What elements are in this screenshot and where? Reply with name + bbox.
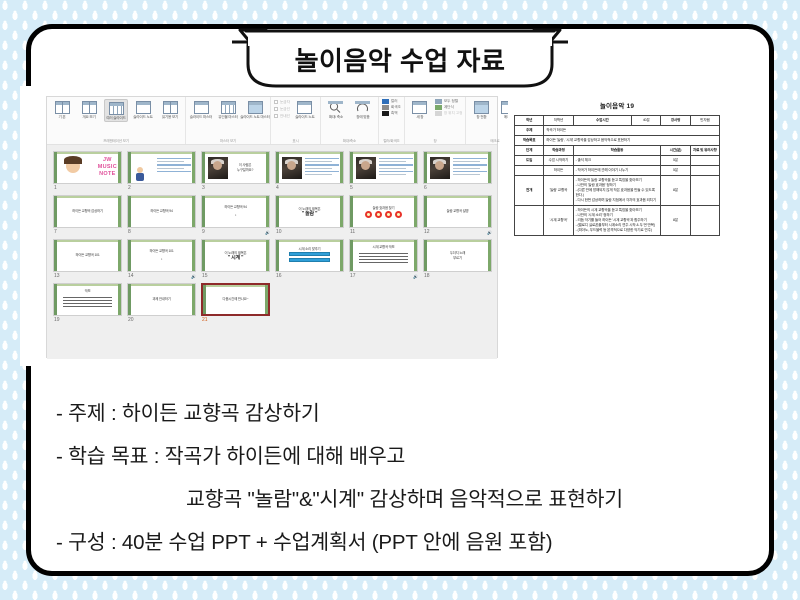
slide-thumb-text: 하이든 교향곡 94 xyxy=(128,196,195,227)
slide-thumbnail-3[interactable]: 이 사람은누구일까요?3 xyxy=(201,151,270,191)
magnifier-icon xyxy=(328,101,343,114)
slide-thumb-text: 하이든 교향곡 감상하기 xyxy=(54,196,121,227)
slide-thumb-text: 다음시간에 만나요~ xyxy=(203,285,268,314)
slide-thumb-image: 악보 xyxy=(53,283,122,316)
slide-thumb-image: 놀람 효과음 찾기 xyxy=(349,195,418,228)
handout-master-label: 유인물 마스터 xyxy=(218,115,237,120)
fit-window-label: 창에 맞춤 xyxy=(356,115,369,120)
slide-root: 놀이음악 수업 자료 기 본 개요 보기 xyxy=(0,0,800,600)
duration-value: 40분 xyxy=(632,116,661,126)
description-block: - 주제 : 하이든 교향곡 감상하기 - 학습 목표 : 작곡가 하이든에 대… xyxy=(56,392,756,564)
gridlines-label: 눈금선 xyxy=(280,106,290,112)
notes-pane-button[interactable]: 슬라이드 노트 xyxy=(293,99,317,120)
grayscale-label: 회색조 xyxy=(391,105,401,110)
slide-number: 12🔊 xyxy=(423,229,492,235)
handout-master-button[interactable]: 유인물 마스터 xyxy=(216,99,240,120)
row-process: '놀람' 교향곡 xyxy=(544,176,573,206)
activity-item: - 다시 한번 감상하며 놀람 지점에서 각자의 효과음 외치기 xyxy=(576,198,659,203)
reading-view-label: 읽기용 보기 xyxy=(162,115,178,120)
outline-view-button[interactable]: 개요 보기 xyxy=(77,99,101,120)
slide-number: 14🔊 xyxy=(127,273,196,279)
table-row-columns: 단계 학습과정 학습활동 시간(분) 자료 및 유의사항 xyxy=(515,146,720,156)
slide-thumb-image xyxy=(275,151,344,184)
arrange-all-label: 모두 정렬 xyxy=(444,99,458,104)
notes-page-view-button[interactable]: 슬라이드 노트 xyxy=(131,99,155,120)
ruler-checkbox[interactable]: 눈금자 xyxy=(274,99,290,105)
gridlines-checkbox[interactable]: 눈금선 xyxy=(274,106,290,112)
slide-thumb-text: JWMUSICNOTE xyxy=(98,157,117,178)
slide-number: 8 xyxy=(127,229,196,235)
row-stage: 도입 xyxy=(515,156,544,166)
slide-master-label: 슬라이드 마스터 xyxy=(190,115,213,120)
description-line-goal-cont: 교향곡 "놀람"&"시계" 감상하며 음악적으로 표현하기 xyxy=(56,478,756,521)
speaker-icon: 🔊 xyxy=(191,274,196,279)
slide-number: 7 xyxy=(53,229,122,235)
slide-thumb-image: 이 노래의 제목은" 시계 " xyxy=(201,239,270,272)
powerpoint-window: 기 본 개요 보기 여러 슬라이드 슬라이드 노트 xyxy=(46,96,498,358)
ribbon-group-label: 마스터 보기 xyxy=(189,139,267,144)
table-row-goal: 학습목표 하이든 '놀람', '시계' 교향곡을 감상하고 음악적으로 표현하기 xyxy=(515,136,720,146)
table-row: 도입수업 시작하기- 출석 체크5분 xyxy=(515,156,720,166)
fit-window-button[interactable]: 창에 맞춤 xyxy=(351,99,375,120)
ribbon-group-label: 확대/축소 xyxy=(324,139,375,144)
slide-thumb-image: 시계 교향곡 악보 xyxy=(349,239,418,272)
guides-checkbox[interactable]: 안내선 xyxy=(274,113,290,119)
col-stage: 단계 xyxy=(515,146,544,156)
slide-thumb-text: 놀람 효과음 찾기 xyxy=(350,196,417,227)
text-lines-decoration xyxy=(305,158,339,177)
slide-thumb-text: 놀람 교향곡 설명 xyxy=(424,196,491,227)
bullet-lines-decoration xyxy=(157,158,191,174)
slide-thumbnail-12[interactable]: 놀람 교향곡 설명12🔊 xyxy=(423,195,492,235)
color-option[interactable]: 컬러 xyxy=(382,99,401,104)
text-lines-decoration xyxy=(453,158,487,177)
layout-basic-icon xyxy=(55,101,70,114)
slide-thumbnail-10[interactable]: 이 노래의 제목은" 놀람 "10 xyxy=(275,195,344,235)
row-time: 5분 xyxy=(661,156,690,166)
slide-thumb-text: 하이든 교향곡 101 xyxy=(54,240,121,271)
switch-window-label: 창 전환 xyxy=(476,115,486,120)
slide-number: 3 xyxy=(201,185,270,191)
new-window-icon xyxy=(412,101,427,114)
col-process: 학습과정 xyxy=(544,146,573,156)
checkbox-icon xyxy=(274,107,278,111)
notes-page-view-label: 슬라이드 노트 xyxy=(133,115,152,120)
slide-thumbnail-9[interactable]: 하이든 교향곡 94♪9🔊 xyxy=(201,195,270,235)
composer-portrait-image xyxy=(356,157,376,179)
row-stage xyxy=(515,206,544,236)
guides-label: 안내선 xyxy=(280,113,290,119)
banner-title-text: 놀이음악 수업 자료 xyxy=(232,28,568,94)
row-process: '시계 교향곡' xyxy=(544,206,573,236)
slide-thumb-image: 다음시간에 만나요~ xyxy=(201,283,270,316)
color-swatch-icon xyxy=(382,99,389,104)
reading-icon xyxy=(163,101,178,114)
slide-thumbnail-8[interactable]: 하이든 교향곡 948 xyxy=(127,195,196,235)
slide-thumb-image: 하이든 교향곡 94♪ xyxy=(201,195,270,228)
row-activities: - 출석 체크 xyxy=(573,156,661,166)
row-activities: - 하이든의 놀람 교향곡을 듣고 특징을 찾아보기- 나만의 '놀람 효과음'… xyxy=(573,176,661,206)
slide-thumb-text: 두더지 노래부르기 xyxy=(424,240,491,271)
slide-sorter-pane[interactable]: JWMUSICNOTE12이 사람은누구일까요?3456하이든 교향곡 감상하기… xyxy=(47,145,497,359)
slide-thumb-image: 하이든 교향곡 101 xyxy=(53,239,122,272)
teacher-value: 민지쌤 xyxy=(690,116,719,126)
slide-thumbnail-14[interactable]: 하이든 교향곡 101♪14🔊 xyxy=(127,239,196,279)
answer-bars-decoration xyxy=(289,252,330,264)
row-process: 하이든 xyxy=(544,166,573,176)
slide-number: 6 xyxy=(423,185,492,191)
speaker-icon: 🔊 xyxy=(487,230,492,235)
slide-sorter-view-label: 여러 슬라이드 xyxy=(106,116,125,121)
checkbox-icon xyxy=(274,100,278,104)
cascade-label: 계단식 xyxy=(444,105,454,110)
row-stage: 전개 xyxy=(515,176,544,206)
lesson-plan-document: 놀이음악 19 학년 저학년 수업시간 40분 강사명 민지쌤 주제 작곡가 하… xyxy=(508,86,726,364)
goal-label: 학습목표 xyxy=(515,136,544,146)
slide-number: 19 xyxy=(53,317,122,323)
title-banner: 놀이음악 수업 자료 xyxy=(232,28,568,94)
cascade-item[interactable]: 계단식 xyxy=(435,105,463,110)
ribbon-group-presentation-views: 기 본 개요 보기 여러 슬라이드 슬라이드 노트 xyxy=(47,97,186,144)
slide-thumbnail-21[interactable]: 다음시간에 만나요~21 xyxy=(201,283,270,323)
slide-thumb-image: 시계 소리 맞추기 xyxy=(275,239,344,272)
powerpoint-ribbon: 기 본 개요 보기 여러 슬라이드 슬라이드 노트 xyxy=(47,97,497,145)
col-notes: 자료 및 유의사항 xyxy=(690,146,719,156)
row-time: 5분 xyxy=(661,166,690,176)
embedded-screenshot: 기 본 개요 보기 여러 슬라이드 슬라이드 노트 xyxy=(20,86,730,366)
row-time: 8분 xyxy=(661,206,690,236)
new-window-button[interactable]: 새 창 xyxy=(408,99,432,120)
subject-value: 작곡가 하이든 xyxy=(544,126,720,136)
checkbox-icon xyxy=(274,114,278,118)
subject-label: 주제 xyxy=(515,126,544,136)
master-handout-icon xyxy=(221,101,236,114)
row-activities: - 작곡가 하이든에 관해 이야기 나누기 xyxy=(573,166,661,176)
goal-value: 하이든 '놀람', '시계' 교향곡을 감상하고 음악적으로 표현하기 xyxy=(544,136,720,146)
table-row: 하이든- 작곡가 하이든에 관해 이야기 나누기5분 xyxy=(515,166,720,176)
slide-number: 21 xyxy=(201,317,270,323)
slide-thumb-image xyxy=(423,151,492,184)
slide-thumbnail-20[interactable]: 과제 안내하기20 xyxy=(127,283,196,323)
slide-thumb-image: 두더지 노래부르기 xyxy=(423,239,492,272)
fit-window-icon xyxy=(355,101,370,114)
slide-thumbnail-15[interactable]: 이 노래의 제목은" 시계 "15 xyxy=(201,239,270,279)
move-split-item[interactable]: 창 위치 고정 xyxy=(435,111,463,116)
table-row-subject: 주제 작곡가 하이든 xyxy=(515,126,720,136)
slide-thumb-text: 과제 안내하기 xyxy=(128,284,195,315)
slide-thumbnail-4[interactable]: 4 xyxy=(275,151,344,191)
blackwhite-option[interactable]: 흑백 xyxy=(382,111,401,116)
grade-label: 학년 xyxy=(515,116,544,126)
slide-thumbnail-16[interactable]: 시계 소리 맞추기16 xyxy=(275,239,344,279)
slide-number: 17🔊 xyxy=(349,273,418,279)
slide-thumb-text: 이 노래의 제목은" 시계 " xyxy=(202,240,269,271)
description-line-subject: - 주제 : 하이든 교향곡 감상하기 xyxy=(56,392,756,435)
slide-number: 11 xyxy=(349,229,418,235)
notes-master-label: 슬라이드 노트 마스터 xyxy=(240,115,270,120)
arrange-all-icon xyxy=(435,99,442,104)
slide-thumb-text: 하이든 교향곡 101♪ xyxy=(128,240,195,271)
table-row: 전개'놀람' 교향곡- 하이든의 놀람 교향곡을 듣고 특징을 찾아보기- 나만… xyxy=(515,176,720,206)
slide-thumb-image: 하이든 교향곡 감상하기 xyxy=(53,195,122,228)
zoom-button[interactable]: 확대/ 축소 xyxy=(324,99,348,120)
row-notes xyxy=(690,166,719,176)
row-notes xyxy=(690,176,719,206)
ribbon-group-label: 표시 xyxy=(274,139,317,144)
slide-thumb-image: 과제 안내하기 xyxy=(127,283,196,316)
lesson-plan-table: 학년 저학년 수업시간 40분 강사명 민지쌤 주제 작곡가 하이든 학습목표 … xyxy=(514,115,720,236)
slide-thumb-text: 시계 소리 맞추기 xyxy=(276,240,343,271)
slide-number: 2 xyxy=(127,185,196,191)
child-illustration-icon xyxy=(135,167,145,181)
row-notes xyxy=(690,206,719,236)
slide-thumb-image xyxy=(127,151,196,184)
slide-thumbnail-17[interactable]: 시계 교향곡 악보17🔊 xyxy=(349,239,418,279)
cascade-icon xyxy=(435,105,442,110)
slide-number: 4 xyxy=(275,185,344,191)
lesson-plan-title: 놀이음악 19 xyxy=(508,100,726,110)
activity-item: - (피아노, 우드블럭 등 본격적으로 다양한 악기로 연주) xyxy=(576,228,659,233)
description-line-goal: - 학습 목표 : 작곡가 하이든에 대해 배우고 xyxy=(56,435,756,478)
slide-thumb-image: 이 사람은누구일까요? xyxy=(201,151,270,184)
slide-thumbnail-7[interactable]: 하이든 교향곡 감상하기7 xyxy=(53,195,122,235)
activity-item: - 작곡가 하이든에 관해 이야기 나누기 xyxy=(576,168,659,173)
notes-pane-label: 슬라이드 노트 xyxy=(295,115,314,120)
master-slide-icon xyxy=(194,101,209,114)
slide-thumbnail-19[interactable]: 악보19 xyxy=(53,283,122,323)
slide-thumbnail-6[interactable]: 6 xyxy=(423,151,492,191)
move-split-label: 창 위치 고정 xyxy=(444,111,463,116)
slide-number: 13 xyxy=(53,273,122,279)
ribbon-group-master-views: 슬라이드 마스터 유인물 마스터 슬라이드 노트 마스터 마스터 보기 xyxy=(186,97,271,144)
master-notes-icon xyxy=(248,101,263,114)
slide-thumb-image: 이 노래의 제목은" 놀람 " xyxy=(275,195,344,228)
description-line-composition: - 구성 : 40분 수업 PPT + 수업계획서 (PPT 안에 음원 포함) xyxy=(56,521,756,564)
table-row-info: 학년 저학년 수업시간 40분 강사명 민지쌤 xyxy=(515,116,720,126)
row-notes xyxy=(690,156,719,166)
slide-thumb-text: 이 사람은누구일까요? xyxy=(202,152,269,183)
layout-outline-icon xyxy=(82,101,97,114)
blackwhite-label: 흑백 xyxy=(391,111,398,116)
slide-number: 1 xyxy=(53,185,122,191)
slide-master-button[interactable]: 슬라이드 마스터 xyxy=(189,99,213,120)
grid-icon xyxy=(109,102,124,115)
table-row: '시계 교향곡'- 하이든의 시계 교향곡을 듣고 특징을 찾아보기- 나만의 … xyxy=(515,206,720,236)
ribbon-group-zoom: 확대/ 축소 창에 맞춤 확대/축소 xyxy=(321,97,379,144)
slide-sorter-view-button[interactable]: 여러 슬라이드 xyxy=(104,99,128,122)
row-process: 수업 시작하기 xyxy=(544,156,573,166)
ribbon-group-label: 창 xyxy=(408,139,463,144)
composer-portrait-image xyxy=(282,157,302,179)
slide-thumb-image: 하이든 교향곡 101♪ xyxy=(127,239,196,272)
music-staff-decoration xyxy=(63,294,112,310)
col-time: 시간(분) xyxy=(661,146,690,156)
new-window-label: 새 창 xyxy=(416,115,423,120)
slide-number: 20 xyxy=(127,317,196,323)
ribbon-group-label: 프레젠테이션 보기 xyxy=(50,139,182,144)
col-activity: 학습활동 xyxy=(573,146,661,156)
slide-number: 5 xyxy=(349,185,418,191)
slide-thumbnail-2[interactable]: 2 xyxy=(127,151,196,191)
basic-view-button[interactable]: 기 본 xyxy=(50,99,74,120)
slide-thumbnail-18[interactable]: 두더지 노래부르기18 xyxy=(423,239,492,279)
move-split-icon xyxy=(435,111,442,116)
ribbon-group-label: 컬러/회색조 xyxy=(382,139,401,144)
blackwhite-swatch-icon xyxy=(382,111,389,116)
slide-number: 15 xyxy=(201,273,270,279)
slide-thumbnail-13[interactable]: 하이든 교향곡 10113 xyxy=(53,239,122,279)
slide-thumbnail-5[interactable]: 5 xyxy=(349,151,418,191)
activity-item: - (다른 반에 방해되지 않게 작은 효과음을 만들 수 있도록 한다.) xyxy=(576,188,659,198)
singer-illustration-icon xyxy=(62,156,84,180)
teacher-label: 강사명 xyxy=(661,116,690,126)
duration-label: 수업시간 xyxy=(573,116,632,126)
slide-thumbnail-11[interactable]: 놀람 효과음 찾기11 xyxy=(349,195,418,235)
slide-thumb-text: 악보 xyxy=(54,284,121,315)
slide-thumb-text: 하이든 교향곡 94♪ xyxy=(202,196,269,227)
slide-grid: JWMUSICNOTE12이 사람은누구일까요?3456하이든 교향곡 감상하기… xyxy=(53,151,492,323)
slide-number: 18 xyxy=(423,273,492,279)
slide-thumb-image xyxy=(349,151,418,184)
outline-view-label: 개요 보기 xyxy=(82,115,95,120)
arrange-all-item[interactable]: 모두 정렬 xyxy=(435,99,463,104)
slide-thumb-text: 시계 교향곡 악보 xyxy=(350,240,417,271)
flower-icons xyxy=(365,211,402,218)
notes-pane-icon xyxy=(297,101,312,114)
ribbon-group-color-grayscale: 컬러 회색조 흑백 컬러/회색조 xyxy=(379,97,405,144)
composer-portrait-image xyxy=(430,157,450,179)
notes-icon xyxy=(136,101,151,114)
lesson-plan-body: 도입수업 시작하기- 출석 체크5분하이든- 작곡가 하이든에 관해 이야기 나… xyxy=(515,156,720,236)
activity-item: - 출석 체크 xyxy=(576,158,659,163)
music-staff-decoration xyxy=(359,250,408,266)
speaker-icon: 🔊 xyxy=(265,230,270,235)
grade-value: 저학년 xyxy=(544,116,573,126)
slide-number: 9🔊 xyxy=(201,229,270,235)
speaker-icon: 🔊 xyxy=(413,274,418,279)
row-stage xyxy=(515,166,544,176)
reading-view-button[interactable]: 읽기용 보기 xyxy=(158,99,182,120)
slide-thumb-image: JWMUSICNOTE xyxy=(53,151,122,184)
slide-number: 16 xyxy=(275,273,344,279)
slide-thumb-image: 하이든 교향곡 94 xyxy=(127,195,196,228)
zoom-label: 확대/ 축소 xyxy=(329,115,343,120)
text-lines-decoration xyxy=(379,158,413,177)
ribbon-group-show: 눈금자 눈금선 안내선 xyxy=(271,97,321,144)
basic-view-label: 기 본 xyxy=(58,115,65,120)
row-activities: - 하이든의 시계 교향곡을 듣고 특징을 찾아보기- 나만의 '시계 소리' … xyxy=(573,206,661,236)
slide-thumbnail-1[interactable]: JWMUSICNOTE1 xyxy=(53,151,122,191)
slide-thumb-image: 놀람 교향곡 설명 xyxy=(423,195,492,228)
switch-window-icon xyxy=(474,101,489,114)
slide-thumb-text: 이 노래의 제목은" 놀람 " xyxy=(276,196,343,227)
switch-window-button[interactable]: 창 전환 xyxy=(469,99,493,120)
row-time: 8분 xyxy=(661,176,690,206)
notes-master-button[interactable]: 슬라이드 노트 마스터 xyxy=(243,99,267,120)
color-label: 컬러 xyxy=(391,99,398,104)
ruler-label: 눈금자 xyxy=(280,99,290,105)
grayscale-option[interactable]: 회색조 xyxy=(382,105,401,110)
ribbon-group-window: 새 창 모두 정렬 계단식 xyxy=(405,97,467,144)
grayscale-swatch-icon xyxy=(382,105,389,110)
slide-number: 10 xyxy=(275,229,344,235)
